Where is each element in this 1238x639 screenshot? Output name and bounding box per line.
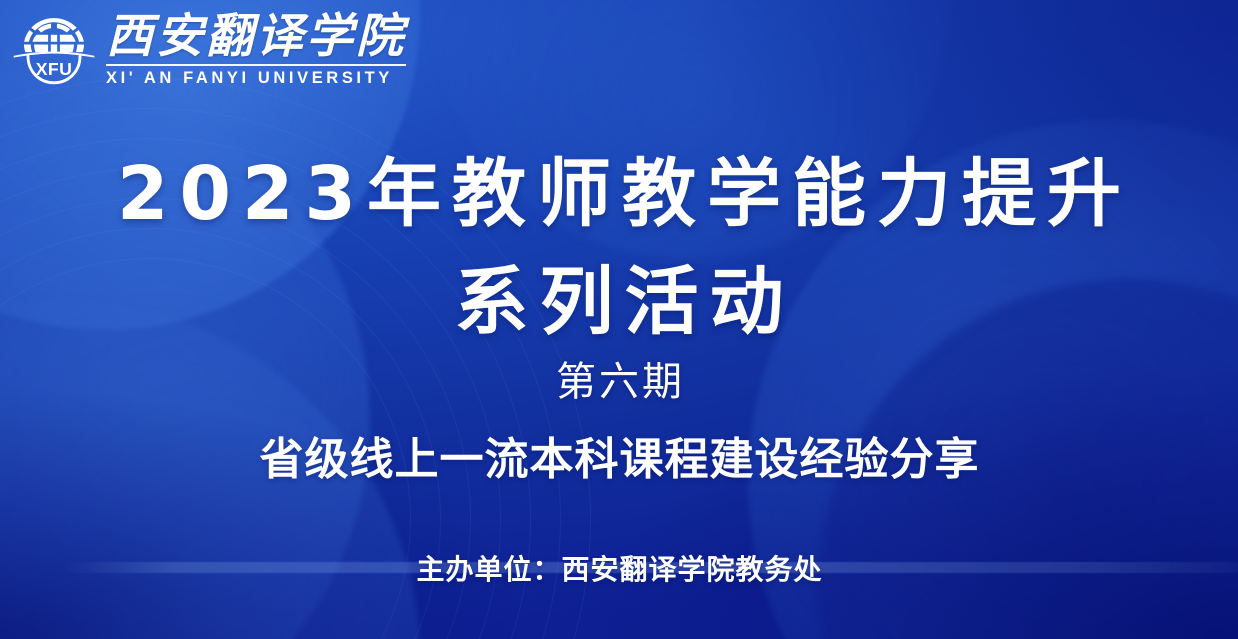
page-title: 2023年教师教学能力提升 系列活动: [0, 140, 1238, 356]
page-title-line-2: 系列活动: [0, 248, 1238, 356]
page-title-line-1: 2023年教师教学能力提升: [0, 140, 1238, 248]
organizer-line: 主办单位：西安翻译学院教务处: [0, 552, 1238, 590]
topic-subtitle: 省级线上一流本科课程建设经验分享: [0, 432, 1238, 488]
poster-content: 2023年教师教学能力提升 系列活动 第六期 省级线上一流本科课程建设经验分享 …: [0, 0, 1238, 639]
issue-label: 第六期: [0, 358, 1238, 406]
poster-slide: XFU 西安翻译学院 XI' AN FANYI UNIVERSITY 2023年…: [0, 0, 1238, 639]
